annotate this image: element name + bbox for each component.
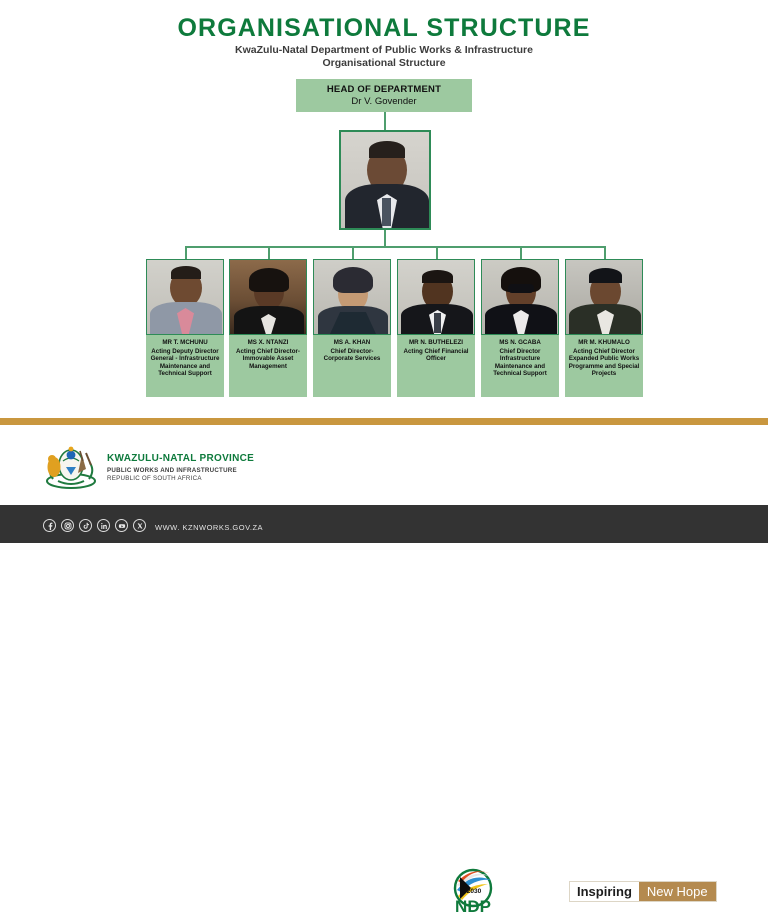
exec-card-buthelezi[interactable]: MR N. BUTHELEZI Acting Chief Financial O… bbox=[397, 259, 475, 397]
exec-label-gcaba: MS N. GCABA Chief Director Infrastructur… bbox=[481, 335, 559, 397]
exec-role: Chief Director Infrastructure Maintenanc… bbox=[484, 348, 556, 378]
org-connector-drop-2 bbox=[268, 246, 270, 259]
exec-role: Acting Chief Director Expanded Public Wo… bbox=[568, 348, 640, 378]
exec-label-khan: MS A. KHAN Chief Director- Corporate Ser… bbox=[313, 335, 391, 397]
exec-photo-khan bbox=[313, 259, 391, 335]
subtitle-line-2: Organisational Structure bbox=[322, 57, 445, 69]
tiktok-icon[interactable] bbox=[79, 519, 92, 532]
exec-label-buthelezi: MR N. BUTHELEZI Acting Chief Financial O… bbox=[397, 335, 475, 397]
youtube-icon[interactable] bbox=[115, 519, 128, 532]
province-name: KWAZULU-NATAL PROVINCE bbox=[107, 453, 254, 464]
province-text-block: KWAZULU-NATAL PROVINCE PUBLIC WORKS AND … bbox=[107, 451, 254, 482]
exec-role: Acting Chief Director- Immovable Asset M… bbox=[232, 348, 304, 371]
exec-card-ntanzi[interactable]: MS X. NTANZI Acting Chief Director- Immo… bbox=[229, 259, 307, 397]
exec-card-mchunu[interactable]: MR T. MCHUNU Acting Deputy Director Gene… bbox=[146, 259, 224, 397]
org-connector-drop-6 bbox=[604, 246, 606, 259]
department-name: PUBLIC WORKS AND INFRASTRUCTURE bbox=[107, 467, 254, 474]
exec-photo-ntanzi bbox=[229, 259, 307, 335]
social-links bbox=[43, 519, 146, 532]
logo-footer: KWAZULU-NATAL PROVINCE PUBLIC WORKS AND … bbox=[0, 425, 768, 505]
exec-card-gcaba[interactable]: MS N. GCABA Chief Director Infrastructur… bbox=[481, 259, 559, 397]
country-name: REPUBLIC OF SOUTH AFRICA bbox=[107, 475, 254, 482]
tagline-light: New Hope bbox=[639, 882, 716, 901]
tagline-badge: Inspiring New Hope bbox=[569, 881, 717, 902]
exec-name: MR M. KHUMALO bbox=[568, 339, 640, 347]
exec-name: MS X. NTANZI bbox=[232, 339, 304, 347]
hod-portrait-image bbox=[341, 132, 429, 228]
subtitle-line-1: KwaZulu-Natal Department of Public Works… bbox=[235, 44, 533, 56]
executive-cards-row: MR T. MCHUNU Acting Deputy Director Gene… bbox=[0, 259, 768, 409]
org-connector-horizontal bbox=[185, 246, 605, 248]
provincial-branding: KWAZULU-NATAL PROVINCE PUBLIC WORKS AND … bbox=[42, 441, 254, 491]
tagline-bold: Inspiring bbox=[570, 882, 639, 901]
ndp-year: 2030 bbox=[467, 888, 482, 895]
exec-role: Acting Deputy Director General - Infrast… bbox=[149, 348, 221, 378]
exec-label-mchunu: MR T. MCHUNU Acting Deputy Director Gene… bbox=[146, 335, 224, 397]
linkedin-icon[interactable] bbox=[97, 519, 110, 532]
ndp-label: NDP bbox=[455, 897, 491, 916]
exec-photo-gcaba bbox=[481, 259, 559, 335]
exec-role: Chief Director- Corporate Services bbox=[316, 348, 388, 363]
x-twitter-icon[interactable] bbox=[133, 519, 146, 532]
exec-photo-mchunu bbox=[146, 259, 224, 335]
org-connector-drop-5 bbox=[520, 246, 522, 259]
page-title: ORGANISATIONAL STRUCTURE bbox=[0, 14, 768, 43]
org-connector-vertical bbox=[384, 230, 386, 247]
ndp-logo-icon: 2030 NDP bbox=[443, 868, 507, 916]
website-url[interactable]: WWW. KZNWORKS.GOV.ZA bbox=[155, 523, 263, 532]
exec-name: MS A. KHAN bbox=[316, 339, 388, 347]
page-subtitle: KwaZulu-Natal Department of Public Works… bbox=[0, 44, 768, 70]
exec-label-ntanzi: MS X. NTANZI Acting Chief Director- Immo… bbox=[229, 335, 307, 397]
exec-name: MR T. MCHUNU bbox=[149, 339, 221, 347]
exec-card-khan[interactable]: MS A. KHAN Chief Director- Corporate Ser… bbox=[313, 259, 391, 397]
exec-card-khumalo[interactable]: MR M. KHUMALO Acting Chief Director Expa… bbox=[565, 259, 643, 397]
exec-role: Acting Chief Financial Officer bbox=[400, 348, 472, 363]
hod-portrait bbox=[339, 130, 431, 230]
head-of-department-box: HEAD OF DEPARTMENT Dr V. Govender bbox=[296, 79, 472, 112]
org-connector-drop-1 bbox=[185, 246, 187, 259]
exec-name: MR N. BUTHELEZI bbox=[400, 339, 472, 347]
hod-name: Dr V. Govender bbox=[351, 96, 416, 107]
kzn-coat-of-arms-icon bbox=[42, 441, 100, 491]
instagram-icon[interactable] bbox=[61, 519, 74, 532]
exec-photo-khumalo bbox=[565, 259, 643, 335]
exec-name: MS N. GCABA bbox=[484, 339, 556, 347]
exec-label-khumalo: MR M. KHUMALO Acting Chief Director Expa… bbox=[565, 335, 643, 397]
exec-photo-buthelezi bbox=[397, 259, 475, 335]
hod-connector-stem bbox=[384, 112, 386, 130]
hod-title: HEAD OF DEPARTMENT bbox=[327, 84, 441, 95]
facebook-icon[interactable] bbox=[43, 519, 56, 532]
org-connector-drop-4 bbox=[436, 246, 438, 259]
org-connector-drop-3 bbox=[352, 246, 354, 259]
footer-dark-bar: WWW. KZNWORKS.GOV.ZA bbox=[0, 505, 768, 543]
gold-divider-band bbox=[0, 418, 768, 425]
